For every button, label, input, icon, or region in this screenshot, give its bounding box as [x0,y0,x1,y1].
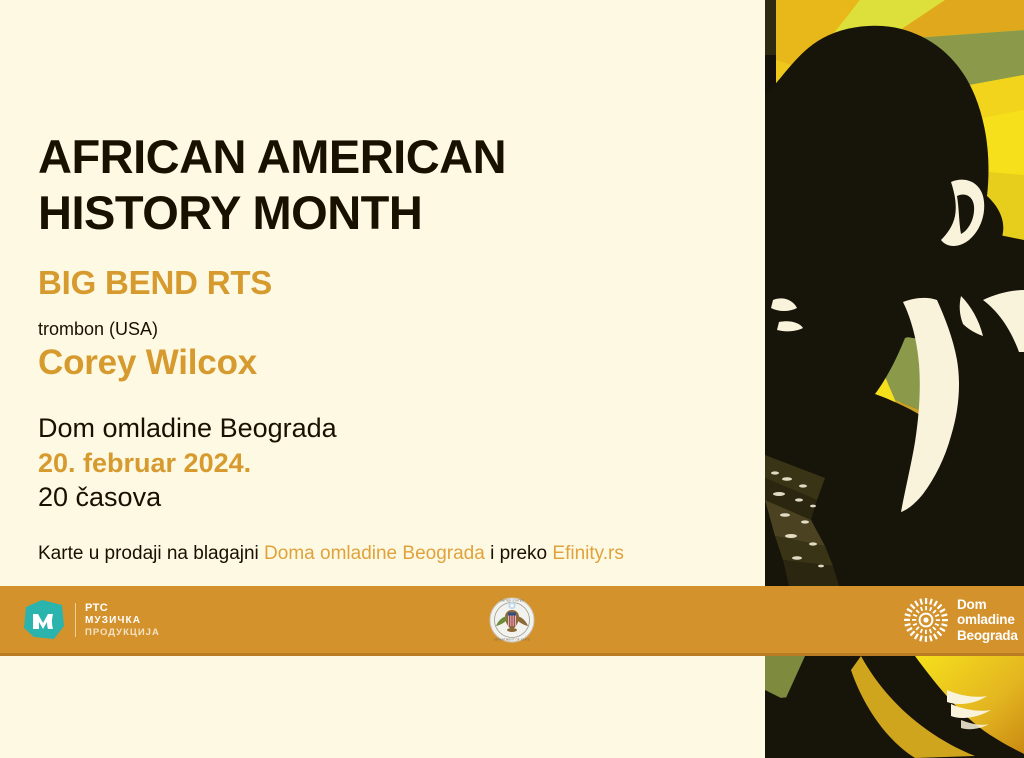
rts-line-1: РТС [85,602,160,615]
dom-omladine-line-3: Beograda [957,628,1018,643]
poster-title-line-1: AFRICAN AMERICAN [38,133,506,180]
ticket-box-office-link[interactable]: Doma omladine Beograda [264,543,485,564]
state-department-seal-icon: UNITED STATES DEPARTMENT OF STATE [489,597,535,643]
us-state-department-seal[interactable]: UNITED STATES DEPARTMENT OF STATE [489,597,535,643]
instrument-label: trombon (USA) [38,320,158,338]
rts-logo-divider [75,603,76,637]
svg-text:UNITED STATES: UNITED STATES [500,599,524,603]
poster-title-line-2: HISTORY MONTH [38,189,422,236]
event-poster: AFRICAN AMERICAN HISTORY MONTH BIG BEND … [0,0,1024,758]
dom-omladine-logo[interactable]: Dom omladine Beograda [903,597,1018,643]
rts-line-3: ПРОДУКЦИЈА [85,627,160,638]
venue-name: Dom omladine Beograda [38,415,337,442]
ticket-info: Karte u prodaji na blagajni Doma omladin… [38,544,624,563]
ticket-info-prefix: Karte u prodaji na blagajni [38,543,264,564]
event-time: 20 časova [38,484,161,511]
rts-line-2: МУЗИЧКА [85,615,160,627]
dom-omladine-sunburst-icon [903,597,949,643]
rts-logo-text: РТС МУЗИЧКА ПРОДУКЦИЈА [85,602,160,638]
rts-mark-icon [22,598,66,642]
ticket-online-link[interactable]: Efinity.rs [552,543,623,564]
band-name: BIG BEND RTS [38,266,272,299]
rts-logo[interactable]: РТС МУЗИЧКА ПРОДУКЦИЈА [22,598,160,642]
trombone-bell [765,656,1024,758]
svg-text:DEPARTMENT OF STATE: DEPARTMENT OF STATE [494,637,530,641]
event-date: 20. februar 2024. [38,450,251,477]
sponsor-footer-bar: РТС МУЗИЧКА ПРОДУКЦИЈА [0,586,1024,656]
dom-omladine-line-2: omladine [957,612,1018,627]
artist-name: Corey Wilcox [38,345,257,380]
dom-omladine-logo-text: Dom omladine Beograda [957,597,1018,642]
ticket-info-conjunction: i preko [485,543,553,564]
dom-omladine-line-1: Dom [957,597,1018,612]
